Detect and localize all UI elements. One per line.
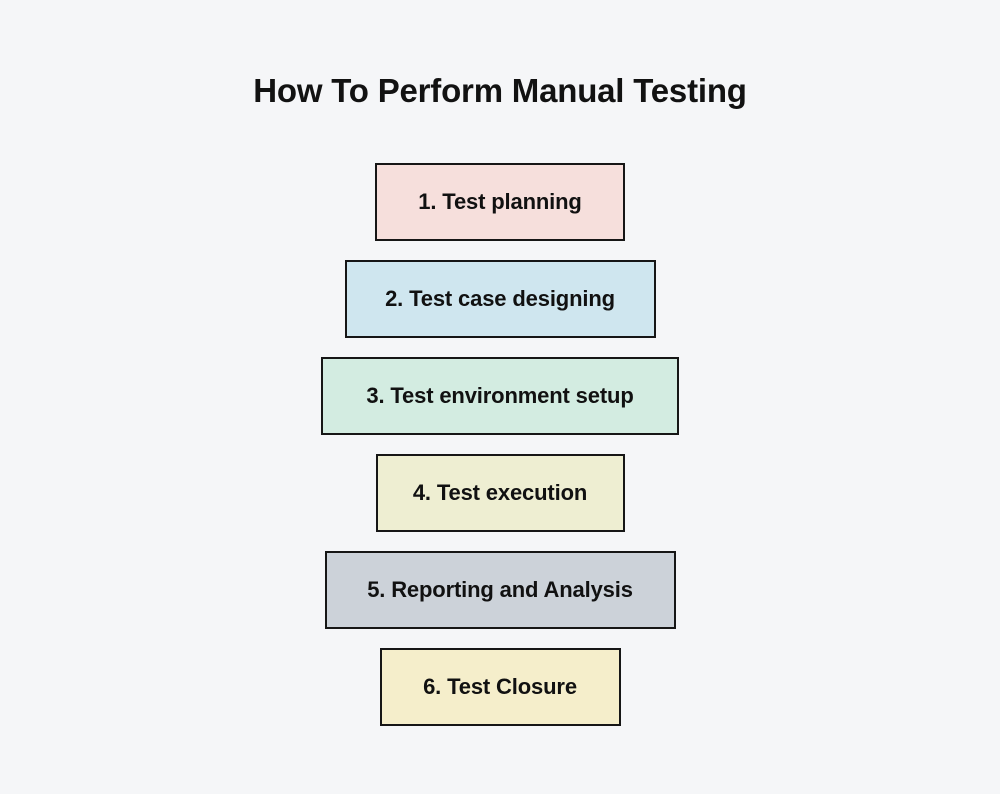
diagram-canvas: How To Perform Manual Testing 1. Test pl… — [0, 0, 1000, 794]
process-step-4-label: 4. Test execution — [413, 481, 587, 505]
process-step-1-test-planning[interactable]: 1. Test planning — [375, 163, 625, 241]
process-step-2-label: 2. Test case designing — [385, 287, 615, 311]
process-step-2-test-case-designing[interactable]: 2. Test case designing — [345, 260, 656, 338]
process-step-4-test-execution[interactable]: 4. Test execution — [376, 454, 625, 532]
page-title: How To Perform Manual Testing — [0, 68, 1000, 114]
process-step-6-label: 6. Test Closure — [423, 675, 577, 699]
process-step-5-label: 5. Reporting and Analysis — [367, 578, 633, 602]
process-step-5-reporting-and-analysis[interactable]: 5. Reporting and Analysis — [325, 551, 676, 629]
process-step-list: 1. Test planning 2. Test case designing … — [0, 163, 1000, 726]
process-step-3-test-environment-setup[interactable]: 3. Test environment setup — [321, 357, 679, 435]
process-step-1-label: 1. Test planning — [418, 190, 581, 214]
process-step-3-label: 3. Test environment setup — [366, 384, 633, 408]
process-step-6-test-closure[interactable]: 6. Test Closure — [380, 648, 621, 726]
